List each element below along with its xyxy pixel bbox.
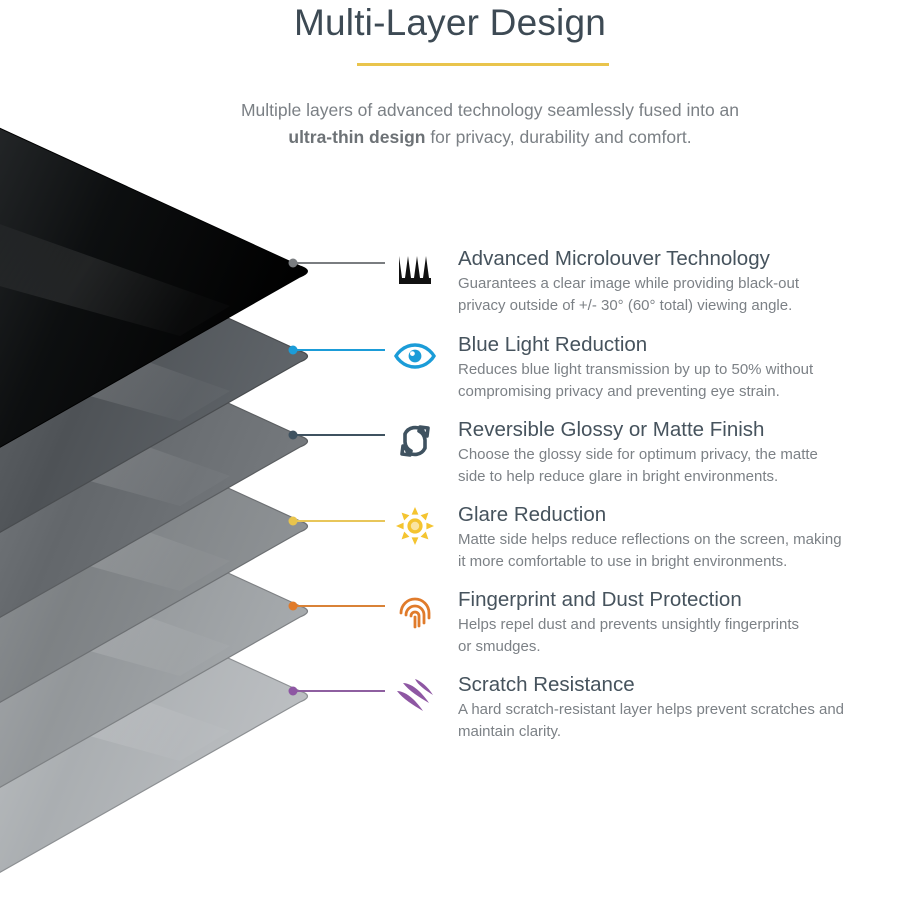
connector-glare	[293, 520, 385, 522]
connector-line	[293, 605, 385, 607]
feature-text: Glare Reduction Matte side helps reduce …	[458, 502, 892, 572]
feature-description: Guarantees a clear image while providing…	[458, 273, 890, 316]
page-title: Multi-Layer Design	[0, 2, 900, 44]
feature-title: Scratch Resistance	[458, 672, 892, 697]
connector-reversible	[293, 434, 385, 436]
connector-line	[293, 349, 385, 351]
feature-title: Fingerprint and Dust Protection	[458, 587, 892, 612]
feature-description: A hard scratch-resistant layer helps pre…	[458, 699, 890, 742]
feature-desc-line-1: Reduces blue light transmission by up to…	[458, 361, 813, 378]
feature-desc-line-2: it more comfortable to use in bright env…	[458, 553, 787, 570]
feature-item-bluelight: Blue Light Reduction Reduces blue light …	[392, 332, 892, 402]
connector-line	[293, 434, 385, 436]
microlouver-icon	[392, 248, 438, 292]
title-underline-rule	[357, 63, 609, 66]
feature-item-scratch: Scratch Resistance A hard scratch-resist…	[392, 672, 892, 742]
connector-line	[293, 520, 385, 522]
reversible-arrows-icon	[392, 419, 438, 463]
feature-text: Reversible Glossy or Matte Finish Choose…	[458, 417, 892, 487]
feature-description: Reduces blue light transmission by up to…	[458, 359, 890, 402]
feature-title: Blue Light Reduction	[458, 332, 892, 357]
subtitle-line-1: Multiple layers of advanced technology s…	[241, 100, 739, 120]
feature-desc-line-2: compromising privacy and preventing eye …	[458, 383, 780, 400]
subtitle-line-2: for privacy, durability and comfort.	[425, 127, 691, 147]
feature-text: Blue Light Reduction Reduces blue light …	[458, 332, 892, 402]
connector-line	[293, 690, 385, 692]
connector-line	[293, 262, 385, 264]
feature-title: Advanced Microlouver Technology	[458, 246, 892, 271]
connector-dot	[289, 602, 298, 611]
connector-bluelight	[293, 349, 385, 351]
feature-text: Advanced Microlouver Technology Guarante…	[458, 246, 892, 316]
sun-icon	[392, 504, 438, 548]
feature-item-reversible: Reversible Glossy or Matte Finish Choose…	[392, 417, 892, 487]
connector-dot	[289, 517, 298, 526]
connector-dot	[289, 346, 298, 355]
eye-icon	[392, 334, 438, 378]
feature-text: Fingerprint and Dust Protection Helps re…	[458, 587, 892, 657]
feature-description: Helps repel dust and prevents unsightly …	[458, 614, 890, 657]
feature-item-fingerprint: Fingerprint and Dust Protection Helps re…	[392, 587, 892, 657]
connector-dot	[289, 687, 298, 696]
feature-text: Scratch Resistance A hard scratch-resist…	[458, 672, 892, 742]
feature-item-microlouver: Advanced Microlouver Technology Guarante…	[392, 246, 892, 316]
connector-fingerprint	[293, 605, 385, 607]
feature-item-glare: Glare Reduction Matte side helps reduce …	[392, 502, 892, 572]
feature-desc-line-2: side to help reduce glare in bright envi…	[458, 468, 778, 485]
feature-desc-line-2: or smudges.	[458, 638, 541, 655]
scratch-icon	[392, 674, 438, 718]
connector-dot	[289, 431, 298, 440]
connector-dot	[289, 259, 298, 268]
infographic-root: Multi-Layer Design Multiple layers of ad…	[0, 0, 900, 900]
fingerprint-icon	[392, 589, 438, 633]
feature-description: Matte side helps reduce reflections on t…	[458, 529, 890, 572]
connector-microlouver	[293, 262, 385, 264]
feature-desc-line-2: privacy outside of +/- 30° (60° total) v…	[458, 297, 792, 314]
feature-title: Reversible Glossy or Matte Finish	[458, 417, 892, 442]
feature-title: Glare Reduction	[458, 502, 892, 527]
layer-stack-graphic	[0, 95, 400, 885]
feature-desc-line-1: Guarantees a clear image while providing…	[458, 275, 799, 292]
page-subtitle: Multiple layers of advanced technology s…	[150, 97, 830, 151]
feature-desc-line-2: maintain clarity.	[458, 723, 561, 740]
feature-description: Choose the glossy side for optimum priva…	[458, 444, 890, 487]
feature-desc-line-1: Helps repel dust and prevents unsightly …	[458, 616, 799, 633]
subtitle-emphasis: ultra-thin design	[288, 127, 425, 147]
feature-desc-line-1: A hard scratch-resistant layer helps pre…	[458, 701, 844, 718]
feature-desc-line-1: Matte side helps reduce reflections on t…	[458, 531, 842, 548]
connector-scratch	[293, 690, 385, 692]
feature-desc-line-1: Choose the glossy side for optimum priva…	[458, 446, 818, 463]
